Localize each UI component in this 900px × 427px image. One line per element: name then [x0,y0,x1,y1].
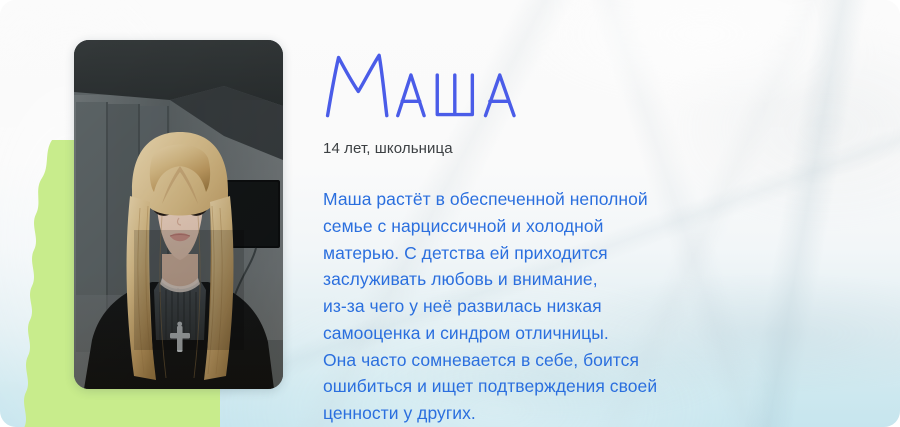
profile-text-column: Маша 14 лет, школьница Маша растё [321,52,751,427]
page-title: Маша [321,52,751,118]
profile-description: Маша растёт в обеспеченной неполной семь… [323,186,723,427]
profile-subtitle: 14 лет, школьница [323,140,751,158]
character-profile-card: Маша 14 лет, школьница Маша растё [0,0,900,427]
profile-photo [74,40,283,389]
